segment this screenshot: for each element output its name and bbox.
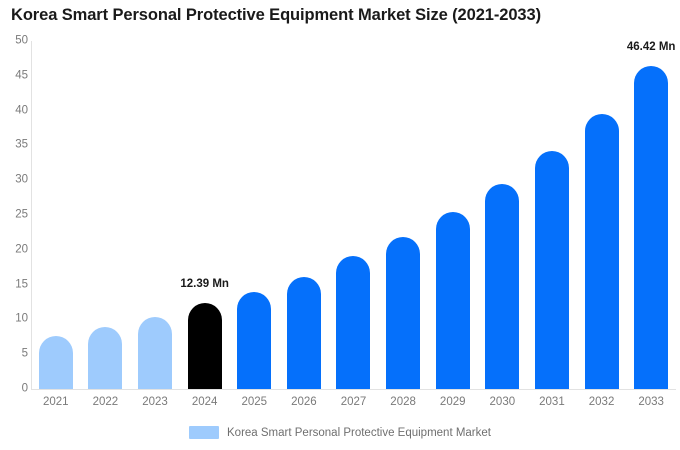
bar-2033[interactable] (634, 66, 668, 389)
chart-title: Korea Smart Personal Protective Equipmen… (11, 6, 541, 25)
bar-2029[interactable] (436, 212, 470, 389)
y-axis-tick-label: 5 (2, 348, 28, 360)
bar-2023[interactable] (138, 317, 172, 389)
bar-slot: 12.39 Mn (180, 41, 230, 389)
bar-slot (478, 41, 528, 389)
bar-2025[interactable] (237, 292, 271, 389)
bar-slot (31, 41, 81, 389)
x-axis: 2021202220232024202520262027202820292030… (31, 396, 676, 416)
x-axis-tick-label-2026: 2026 (279, 396, 329, 410)
x-axis-line (31, 389, 676, 390)
y-axis-tick-label: 0 (2, 383, 28, 395)
chart-container: Korea Smart Personal Protective Equipmen… (0, 0, 680, 450)
legend-swatch-icon (189, 426, 219, 439)
bars-layer: 12.39 Mn46.42 Mn (31, 41, 676, 389)
y-axis-tick-label: 10 (2, 314, 28, 326)
bar-slot (279, 41, 329, 389)
bar-2024[interactable] (188, 303, 222, 389)
x-axis-tick-label-2022: 2022 (81, 396, 131, 410)
bar-value-label-2033: 46.42 Mn (627, 42, 676, 54)
bar-2031[interactable] (535, 151, 569, 389)
y-axis-tick-label: 35 (2, 140, 28, 152)
y-axis-tick-label: 20 (2, 244, 28, 256)
x-axis-tick-label-2033: 2033 (626, 396, 676, 410)
y-axis-tick-label: 15 (2, 279, 28, 291)
bar-2022[interactable] (88, 327, 122, 389)
y-axis-tick-label: 30 (2, 174, 28, 186)
bar-slot (229, 41, 279, 389)
bar-2032[interactable] (585, 114, 619, 389)
x-axis-tick-label-2030: 2030 (478, 396, 528, 410)
chart-legend: Korea Smart Personal Protective Equipmen… (0, 426, 680, 439)
bar-2030[interactable] (485, 184, 519, 389)
bar-2028[interactable] (386, 237, 420, 389)
x-axis-tick-label-2029: 2029 (428, 396, 478, 410)
bar-slot (428, 41, 478, 389)
x-axis-tick-label-2032: 2032 (577, 396, 627, 410)
x-axis-tick-label-2021: 2021 (31, 396, 81, 410)
bar-2021[interactable] (39, 336, 73, 389)
y-axis: 05101520253035404550 (0, 0, 28, 450)
bar-2027[interactable] (336, 256, 370, 389)
x-axis-tick-label-2027: 2027 (329, 396, 379, 410)
x-axis-tick-label-2025: 2025 (229, 396, 279, 410)
x-axis-tick-label-2023: 2023 (130, 396, 180, 410)
x-axis-tick-label-2031: 2031 (527, 396, 577, 410)
legend-item-label: Korea Smart Personal Protective Equipmen… (227, 427, 491, 439)
bar-slot (130, 41, 180, 389)
bar-slot (81, 41, 131, 389)
x-axis-tick-label-2024: 2024 (180, 396, 230, 410)
bar-slot: 46.42 Mn (626, 41, 676, 389)
x-axis-tick-label-2028: 2028 (378, 396, 428, 410)
legend-item-market[interactable]: Korea Smart Personal Protective Equipmen… (189, 426, 491, 439)
y-axis-tick-label: 25 (2, 209, 28, 221)
bar-value-label-2024: 12.39 Mn (180, 279, 229, 291)
bar-2026[interactable] (287, 277, 321, 389)
y-axis-tick-label: 45 (2, 70, 28, 82)
bar-slot (378, 41, 428, 389)
bar-slot (527, 41, 577, 389)
y-axis-tick-label: 50 (2, 35, 28, 47)
y-axis-tick-label: 40 (2, 105, 28, 117)
bar-slot (577, 41, 627, 389)
bar-slot (329, 41, 379, 389)
